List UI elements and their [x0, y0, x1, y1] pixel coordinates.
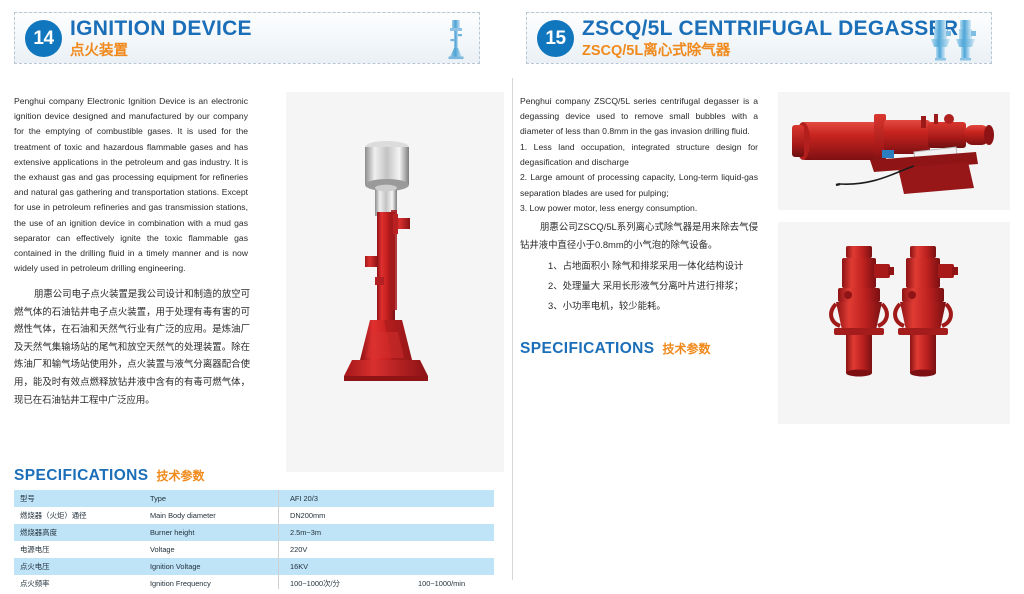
table-cell-v2 [412, 490, 494, 507]
table-cell-v1: 220V [284, 541, 412, 558]
product-header-left: 14 IGNITION DEVICE 点火装置 [14, 12, 480, 64]
spec-title-zh-left: 技术参数 [157, 469, 205, 483]
table-cell-v1: 16KV [284, 558, 412, 575]
table-cell-v2: 100~1000/min [412, 575, 494, 592]
product-panel-ignition-device: 14 IGNITION DEVICE 点火装置 [0, 0, 512, 594]
product-title-block-left: IGNITION DEVICE 点火装置 [70, 17, 252, 61]
table-cell-zh: 燃烧器（火炬）通径 [14, 507, 144, 524]
product-description-en-left: Penghui company Electronic Ignition Devi… [14, 94, 248, 276]
product-description-en-right: Penghui company ZSCQ/5L series centrifug… [520, 94, 758, 140]
feature-zh-1: 1、占地面积小 除气和排浆采用一体化结构设计 [548, 256, 796, 276]
table-cell-v1: AFI 20/3 [284, 490, 412, 507]
table-cell-en: Type [144, 490, 284, 507]
table-cell-en: Voltage [144, 541, 284, 558]
table-cell-v2 [412, 558, 494, 575]
product-description-zh-right: 朋惠公司ZSCQ/5L系列离心式除气器是用来除去气侵钻井液中直径小于0.8mm的… [520, 218, 758, 253]
ignition-device-photo [286, 92, 504, 472]
spec-heading-right: SPECIFICATIONS技术参数 [520, 340, 711, 358]
product-title-zh-left: 点火装置 [70, 42, 252, 61]
product-number-badge-right: 15 [537, 20, 574, 57]
table-cell-v1: DN200mm [284, 507, 412, 524]
table-row: 燃烧器高度Burner height2.5m~3m [14, 524, 494, 541]
table-row: 电源电压Voltage220V [14, 541, 494, 558]
product-title-en-right: ZSCQ/5L CENTRIFUGAL DEGASSER [582, 17, 958, 41]
table-cell-v2 [412, 541, 494, 558]
table-row: 燃烧器（火炬）通径Main Body diameterDN200mm [14, 507, 494, 524]
table-cell-zh: 燃烧器高度 [14, 524, 144, 541]
table-cell-zh: 型号 [14, 490, 144, 507]
product-title-en-left: IGNITION DEVICE [70, 17, 252, 41]
table-cell-v2 [412, 524, 494, 541]
table-cell-zh: 电源电压 [14, 541, 144, 558]
spec-title-zh-right: 技术参数 [663, 342, 711, 356]
product-title-zh-right: ZSCQ/5L离心式除气器 [582, 42, 958, 61]
catalog-page: 14 IGNITION DEVICE 点火装置 [0, 0, 1024, 594]
product-description-zh-left: 朋惠公司电子点火装置是我公司设计和制造的放空可燃气体的石油钻井电子点火装置，用于… [14, 285, 250, 408]
feature-en-1: 1. Less land occupation, integrated stru… [520, 140, 758, 170]
product-title-block-right: ZSCQ/5L CENTRIFUGAL DEGASSER ZSCQ/5L离心式除… [582, 17, 958, 61]
feature-zh-3: 3、小功率电机，较少能耗。 [548, 296, 796, 316]
table-cell-en: Ignition Frequency [144, 575, 284, 592]
table-row: 型号TypeAFI 20/3 [14, 490, 494, 507]
table-row: 点火电压Ignition Voltage16KV [14, 558, 494, 575]
feature-en-3: 3. Low power motor, less energy consumpt… [520, 201, 758, 216]
table-cell-v1: 100~1000次/分 [284, 575, 412, 592]
product-features-zh-right: 1、占地面积小 除气和排浆采用一体化结构设计 2、处理量大 采用长形液气分离叶片… [520, 256, 796, 316]
table-cell-v2 [412, 507, 494, 524]
table-row: 点火频率Ignition Frequency100~1000次/分100~100… [14, 575, 494, 592]
feature-en-2: 2. Large amount of processing capacity, … [520, 170, 758, 200]
product-panel-centrifugal-degasser: 15 ZSCQ/5L CENTRIFUGAL DEGASSER ZSCQ/5L离… [512, 0, 1024, 594]
spec-heading-left: SPECIFICATIONS技术参数 [14, 467, 205, 485]
spec-table-left: 型号TypeAFI 20/3燃烧器（火炬）通径Main Body diamete… [14, 490, 494, 592]
product-features-en-right: 1. Less land occupation, integrated stru… [520, 140, 758, 216]
ignition-device-silhouette-icon [441, 17, 471, 61]
feature-zh-2: 2、处理量大 采用长形液气分离叶片进行排浆； [548, 276, 796, 296]
product-header-right: 15 ZSCQ/5L CENTRIFUGAL DEGASSER ZSCQ/5L离… [526, 12, 992, 64]
spec-title-en-left: SPECIFICATIONS [14, 467, 149, 484]
centrifugal-degasser-horizontal-photo [778, 92, 1010, 210]
table-cell-zh: 点火电压 [14, 558, 144, 575]
table-cell-en: Ignition Voltage [144, 558, 284, 575]
product-number-badge-left: 14 [25, 20, 62, 57]
table-cell-en: Main Body diameter [144, 507, 284, 524]
table-cell-zh: 点火频率 [14, 575, 144, 592]
spec-table-left-divider [278, 490, 279, 589]
table-cell-en: Burner height [144, 524, 284, 541]
centrifugal-degasser-pair-photo [778, 222, 1010, 424]
spec-title-en-right: SPECIFICATIONS [520, 340, 655, 357]
centrifugal-degasser-silhouette-icon [927, 17, 983, 61]
table-cell-v1: 2.5m~3m [284, 524, 412, 541]
